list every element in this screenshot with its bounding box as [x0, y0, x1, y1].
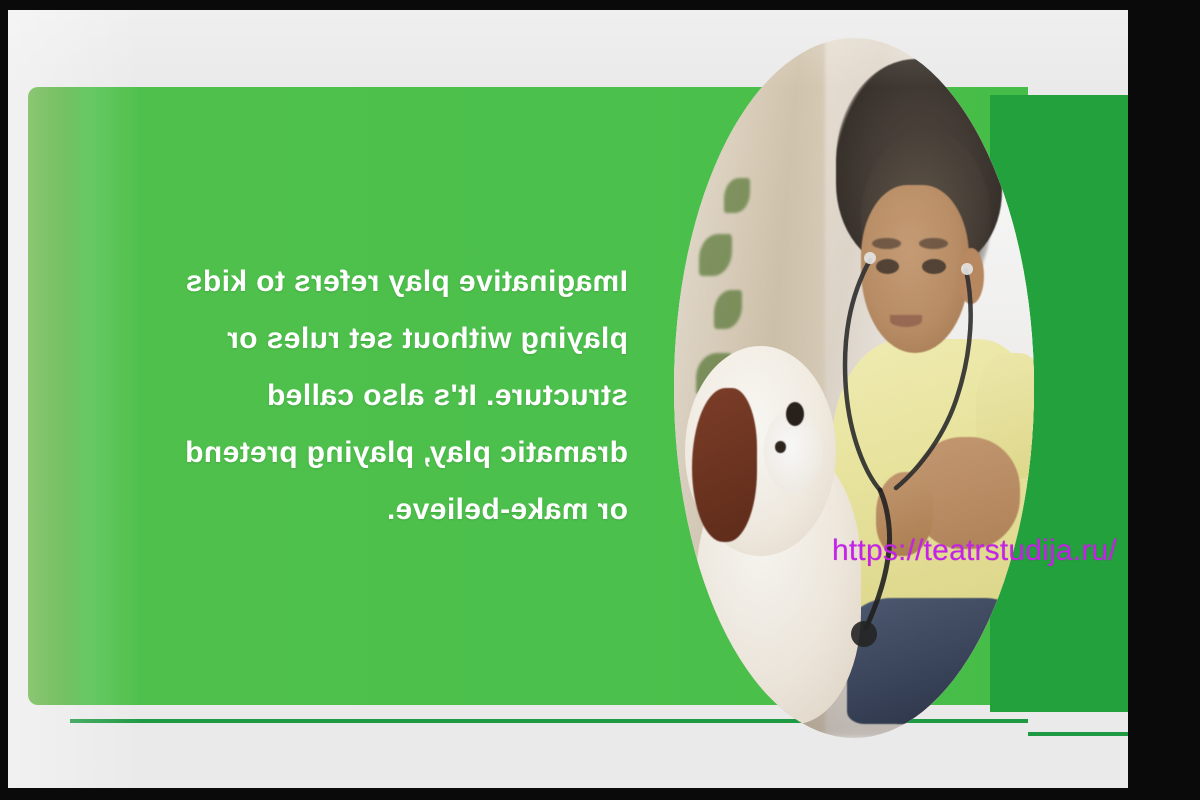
child-photo [674, 38, 1034, 738]
slide-page: Imaginative play refers to kids playing … [8, 10, 1128, 788]
stethoscope-icon [674, 38, 1034, 738]
divider-rule-right [1028, 732, 1128, 736]
quote-text: Imaginative play refers to kids playing … [116, 253, 628, 538]
watermark-url: https://teatrstudija.ru/ [832, 534, 1117, 568]
screenshot-canvas: Imaginative play refers to kids playing … [0, 0, 1200, 800]
